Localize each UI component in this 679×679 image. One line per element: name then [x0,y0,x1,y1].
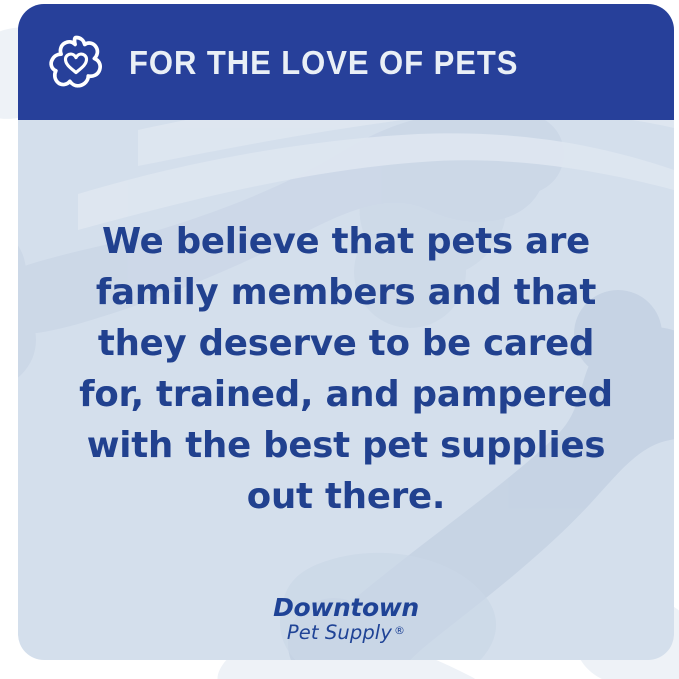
quote-line-2: family members and that [96,272,596,313]
banner-header: FOR THE LOVE OF PETS [18,4,674,120]
quote-line-1: We believe that pets are [102,221,590,262]
banner-image: FOR THE LOVE OF PETS We believe that pet… [0,0,679,679]
quote-text: We believe that pets are family members … [63,216,629,522]
header-title: FOR THE LOVE OF PETS [129,46,518,79]
brand-name-primary: Downtown [18,594,674,621]
quote-line-4: for, trained, and pampered [79,374,613,415]
quote-line-6: out there. [247,476,445,517]
registered-trademark-icon: ® [394,624,405,637]
banner-body: We believe that pets are family members … [18,120,674,660]
quote-line-3: they deserve to be cared [98,323,594,364]
brand-name-secondary: Pet Supply® [18,622,674,644]
paw-heart-icon [48,34,104,90]
brand-name-secondary-text: Pet Supply [287,621,392,644]
banner-card: FOR THE LOVE OF PETS We believe that pet… [18,4,674,660]
brand-logo: Downtown Pet Supply® [18,594,674,644]
quote-line-5: with the best pet supplies [87,425,606,466]
